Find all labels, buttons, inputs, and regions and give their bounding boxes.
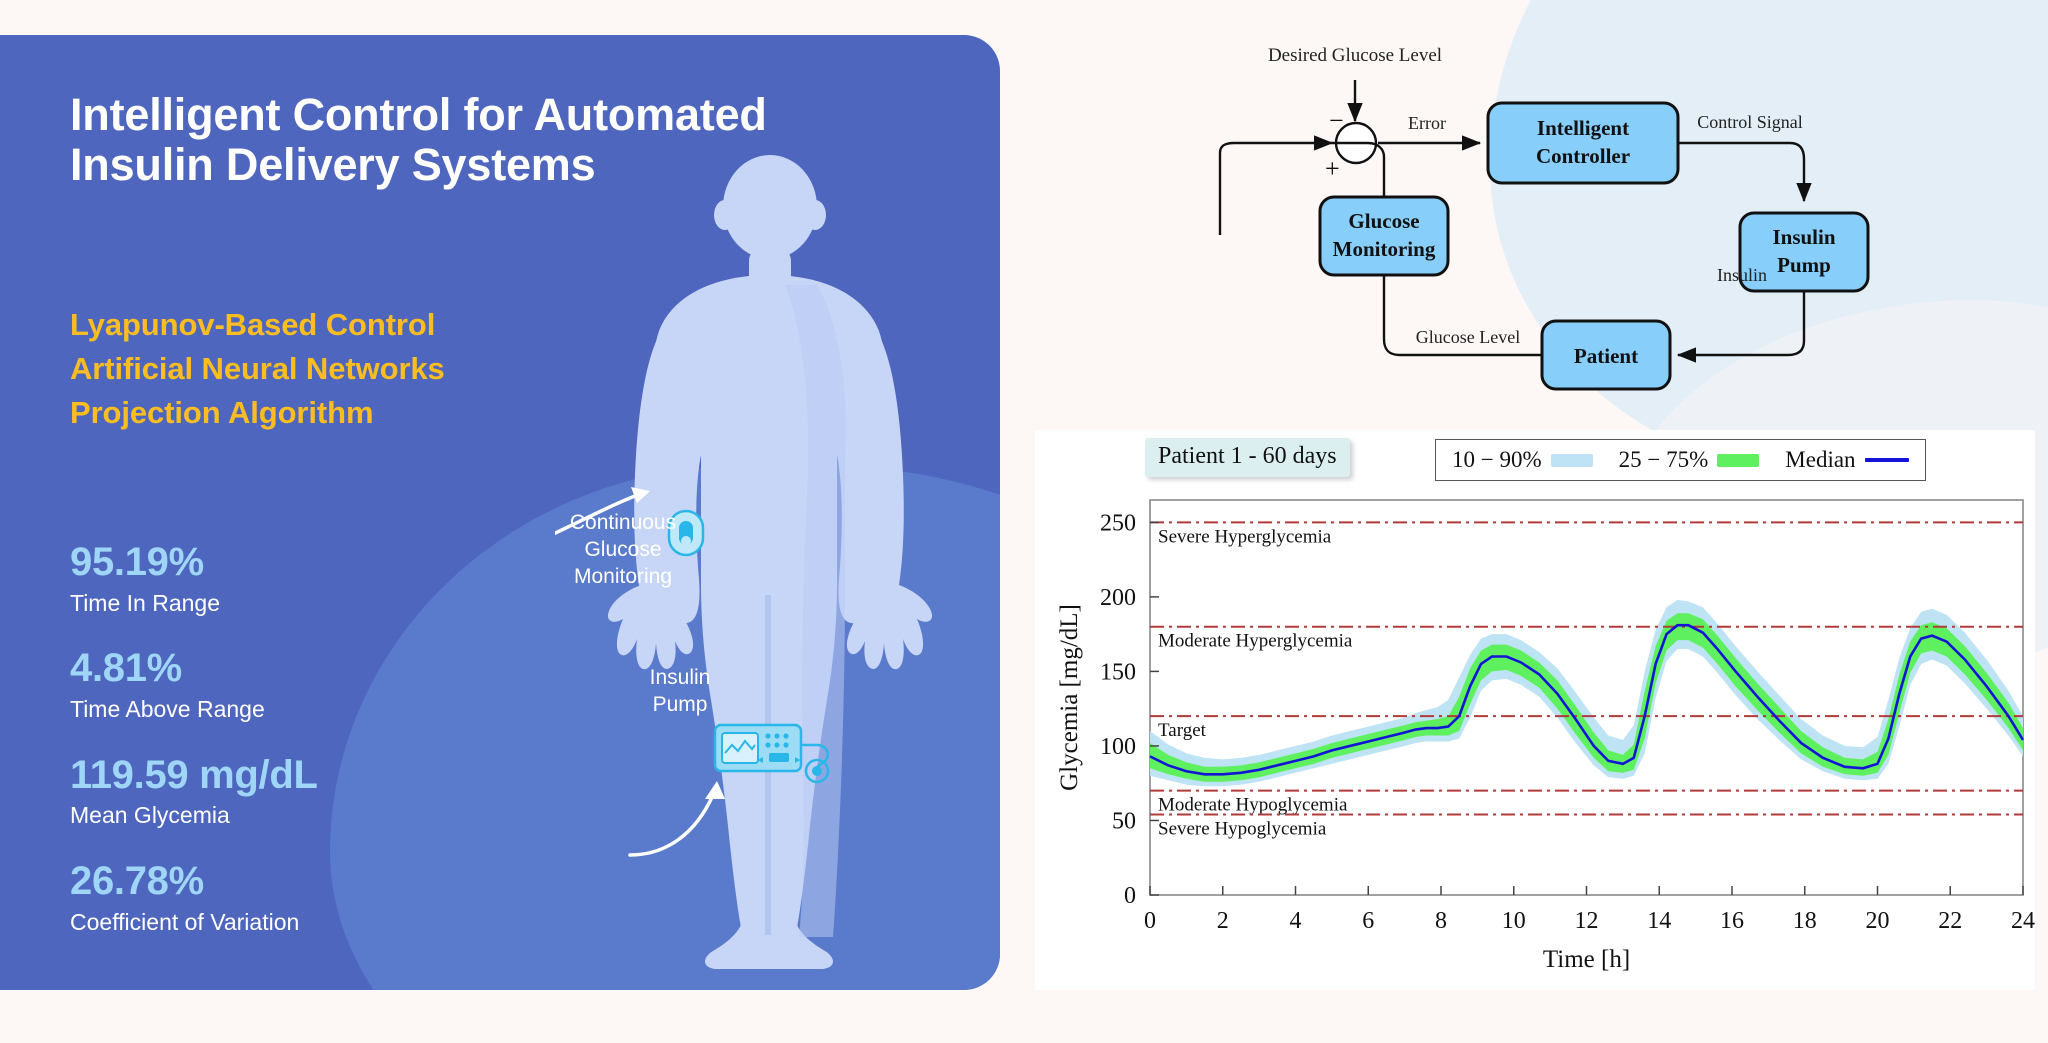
metric-label: Coefficient of Variation <box>70 905 318 940</box>
metric-mean-glycemia: 119.59 mg/dL Mean Glycemia <box>70 753 318 833</box>
metric-value: 26.78% <box>70 859 318 904</box>
callout-cgm-line-1: Continuous <box>548 510 698 537</box>
x-axis-label: Time [h] <box>1543 946 1630 973</box>
metric-value: 95.19% <box>70 540 318 585</box>
block-label-line-1: Glucose <box>1348 209 1419 233</box>
metric-value: 119.59 mg/dL <box>70 753 318 798</box>
callout-cgm: Continuous Glucose Monitoring <box>548 510 698 591</box>
glycemia-chart-card: Patient 1 - 60 days 10 − 90% 25 − 75% Me… <box>1035 430 2035 990</box>
metrics-list: 95.19% Time In Range 4.81% Time Above Ra… <box>70 540 318 965</box>
keyword-item-1: Artificial Neural Networks <box>70 347 445 391</box>
x-tick-label: 12 <box>1575 908 1599 934</box>
chart-legend: 10 − 90% 25 − 75% Median <box>1435 439 1926 481</box>
x-tick-label: 22 <box>1938 908 1962 934</box>
y-tick-label: 200 <box>1100 585 1136 611</box>
legend-item-10-90: 10 − 90% <box>1452 447 1593 473</box>
edge-label-error: Error <box>1408 113 1446 133</box>
metric-time-above-range: 4.81% Time Above Range <box>70 646 318 726</box>
y-tick-label: 100 <box>1100 734 1136 760</box>
x-tick-label: 4 <box>1290 908 1302 934</box>
edge-label-setpoint: Desired Glucose Level <box>1268 45 1442 66</box>
x-tick-label: 18 <box>1793 908 1817 934</box>
metric-coefficient-of-variation: 26.78% Coefficient of Variation <box>70 859 318 939</box>
y-tick-label: 150 <box>1100 659 1136 685</box>
chart-title-badge: Patient 1 - 60 days <box>1145 438 1350 477</box>
callout-pump-line-2: Pump <box>620 692 740 719</box>
legend-item-25-75: 25 − 75% <box>1619 447 1760 473</box>
edge-label-control-signal: Control Signal <box>1697 112 1803 132</box>
legend-label: 10 − 90% <box>1452 447 1542 473</box>
pump-arrow-head-icon <box>705 781 725 799</box>
callout-pump-line-1: Insulin <box>620 665 740 692</box>
metric-label: Time In Range <box>70 586 318 621</box>
control-loop-block-diagram: Desired Glucose Level − + Error Intellig… <box>1190 25 2010 415</box>
legend-item-median: Median <box>1785 447 1908 473</box>
threshold-label-3: Moderate Hypoglycemia <box>1158 795 1348 816</box>
block-glucose-monitoring: Glucose Monitoring <box>1320 197 1448 275</box>
block-label-line-2: Controller <box>1536 144 1630 168</box>
block-label-line-2: Monitoring <box>1333 237 1436 261</box>
edge-feedback-to-sum <box>1220 143 1332 235</box>
edge-insulin <box>1678 291 1804 355</box>
block-label-line-1: Patient <box>1574 344 1638 368</box>
y-tick-label: 0 <box>1124 883 1136 909</box>
block-patient: Patient <box>1542 321 1670 389</box>
summing-sign-plus: + <box>1325 154 1340 183</box>
metric-time-in-range: 95.19% Time In Range <box>70 540 318 620</box>
legend-swatch-line-median <box>1865 458 1909 462</box>
hero-card: Intelligent Control for Automated Insuli… <box>0 35 1000 990</box>
threshold-label-4: Severe Hypoglycemia <box>1158 819 1327 840</box>
x-tick-label: 16 <box>1720 908 1744 934</box>
edge-label-glucose-level: Glucose Level <box>1416 327 1520 347</box>
block-label-line-1: Intelligent <box>1537 116 1629 140</box>
callout-cgm-line-3: Monitoring <box>548 564 698 591</box>
x-tick-label: 14 <box>1647 908 1671 934</box>
y-tick-label: 50 <box>1112 808 1136 834</box>
x-tick-label: 2 <box>1217 908 1229 934</box>
poster-root: Intelligent Control for Automated Insuli… <box>0 0 2048 1043</box>
summing-sign-minus: − <box>1329 106 1344 135</box>
threshold-label-0: Severe Hyperglycemia <box>1158 526 1332 547</box>
page-title-line-1: Intelligent Control for Automated <box>70 90 830 140</box>
legend-swatch-band-10-90 <box>1551 454 1593 467</box>
metric-value: 4.81% <box>70 646 318 691</box>
metric-label: Time Above Range <box>70 692 318 727</box>
x-tick-label: 0 <box>1144 908 1156 934</box>
keyword-list: Lyapunov-Based Control Artificial Neural… <box>70 303 445 435</box>
threshold-label-2: Target <box>1158 720 1207 741</box>
legend-swatch-band-25-75 <box>1717 454 1759 467</box>
keyword-item-0: Lyapunov-Based Control <box>70 303 445 347</box>
block-intelligent-controller: Intelligent Controller <box>1488 103 1678 183</box>
block-label-line-2: Pump <box>1777 253 1831 277</box>
x-tick-label: 8 <box>1435 908 1447 934</box>
callout-cgm-line-2: Glucose <box>548 537 698 564</box>
block-label-line-1: Insulin <box>1772 225 1835 249</box>
callout-insulin-pump: Insulin Pump <box>620 665 740 719</box>
pump-arrow-icon <box>630 795 713 855</box>
x-tick-label: 20 <box>1866 908 1890 934</box>
threshold-label-1: Moderate Hyperglycemia <box>1158 631 1353 652</box>
edge-label-insulin: Insulin <box>1717 265 1767 285</box>
x-tick-label: 6 <box>1362 908 1374 934</box>
x-tick-label: 10 <box>1502 908 1526 934</box>
metric-label: Mean Glycemia <box>70 798 318 833</box>
legend-label: 25 − 75% <box>1619 447 1709 473</box>
keyword-item-2: Projection Algorithm <box>70 391 445 435</box>
x-tick-label: 24 <box>2011 908 2035 934</box>
glycemia-plot: Severe HyperglycemiaModerate Hyperglycem… <box>1035 430 2035 990</box>
y-axis-label: Glycemia [mg/dL] <box>1056 604 1083 791</box>
legend-label: Median <box>1785 447 1855 473</box>
edge-control-signal <box>1678 143 1804 201</box>
y-tick-label: 250 <box>1100 510 1136 536</box>
